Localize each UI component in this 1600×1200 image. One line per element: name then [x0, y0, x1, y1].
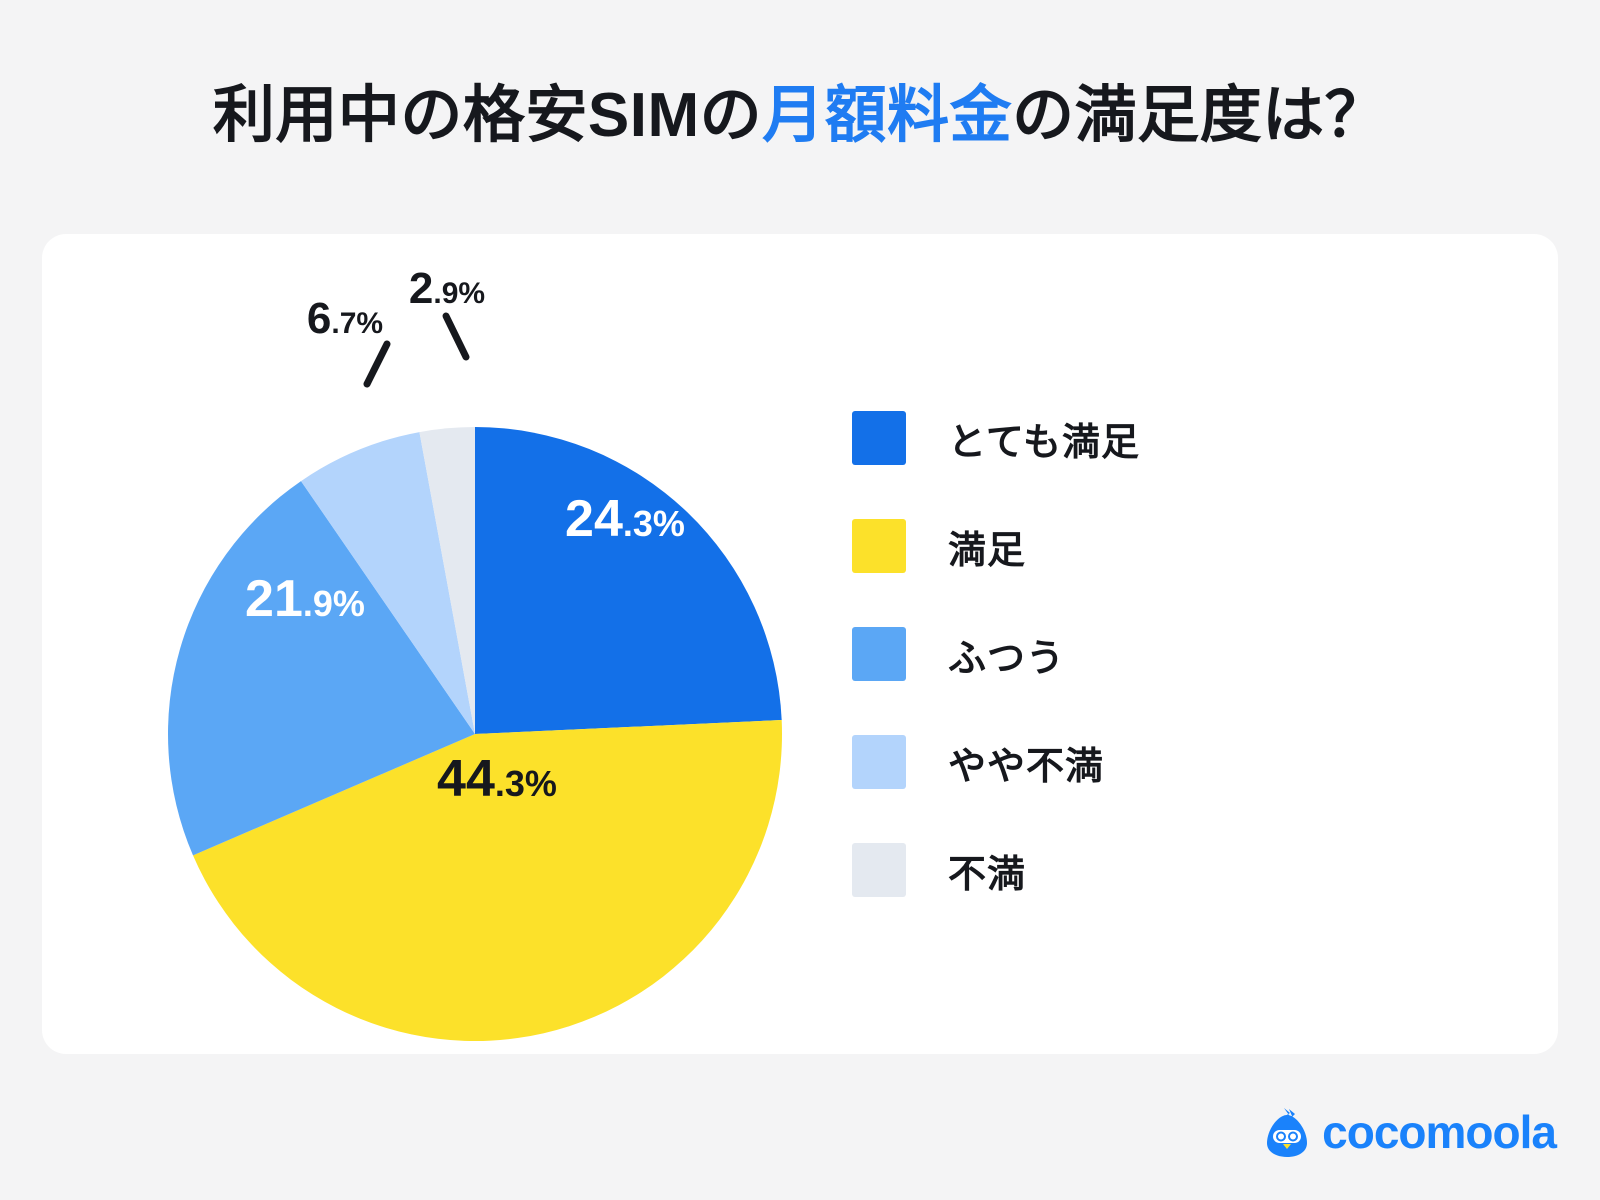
legend-item-somewhat-dissatisfied[interactable]: やや不満 [852, 708, 1372, 816]
title-suffix: の満足度は？ [1012, 81, 1387, 150]
title-highlight: 月額料金 [762, 81, 1012, 150]
legend-label-somewhat-dissatisfied: やや不満 [948, 735, 1104, 790]
legend-swatch-dissatisfied [852, 843, 906, 897]
legend-item-very-satisfied[interactable]: とても満足 [852, 384, 1372, 492]
legend-label-very-satisfied: とても満足 [948, 411, 1140, 466]
slice-label-somewhat-dissatisfied: 6.7% [307, 297, 383, 341]
slice-value-dec-neutral: .9% [303, 583, 365, 624]
leader-line-dissatisfied [446, 316, 466, 357]
moneybag-mascot-icon [1264, 1106, 1310, 1158]
pie-chart: 24.3% 44.3% 21.9% 6.7% 2.9% [42, 234, 902, 1054]
brand-logo-text: cocomoola [1322, 1109, 1556, 1155]
slice-label-satisfied: 44.3% [437, 753, 557, 805]
slice-value-dec-dissatisfied: .9% [433, 277, 485, 310]
chart-card: 24.3% 44.3% 21.9% 6.7% 2.9% とても満足満足ふつうやや… [42, 234, 1558, 1054]
page-title-text: 利用中の格安SIMの月額料金の満足度は？ [213, 80, 1387, 151]
legend-label-dissatisfied: 不満 [948, 843, 1026, 898]
legend-label-satisfied: 満足 [948, 519, 1026, 574]
pie-chart-svg [42, 234, 902, 1054]
brand-logo: cocomoola [1264, 1106, 1556, 1158]
pie-slice-very-satisfied[interactable] [475, 427, 782, 734]
slice-label-dissatisfied: 2.9% [409, 267, 485, 311]
slice-value-dec-satisfied: .3% [495, 763, 557, 804]
legend-swatch-satisfied [852, 519, 906, 573]
legend-swatch-neutral [852, 627, 906, 681]
legend-swatch-somewhat-dissatisfied [852, 735, 906, 789]
slice-label-very-satisfied: 24.3% [565, 493, 685, 545]
slice-value-dec-somewhat-dissatisfied: .7% [331, 307, 383, 340]
slice-label-neutral: 21.9% [245, 573, 365, 625]
legend-item-neutral[interactable]: ふつう [852, 600, 1372, 708]
slice-value-int-very-satisfied: 24 [565, 490, 623, 548]
slice-value-int-neutral: 21 [245, 570, 303, 628]
leader-line-somewhat-dissatisfied [367, 344, 387, 384]
chart-page: 利用中の格安SIMの月額料金の満足度は？ 24.3% 44.3% 21.9% 6… [0, 0, 1600, 1200]
title-prefix: 利用中の格安SIMの [213, 81, 762, 150]
pie-slices [168, 427, 782, 1041]
legend-item-satisfied[interactable]: 満足 [852, 492, 1372, 600]
slice-value-int-somewhat-dissatisfied: 6 [307, 294, 331, 343]
chart-legend: とても満足満足ふつうやや不満不満 [852, 384, 1372, 924]
legend-item-dissatisfied[interactable]: 不満 [852, 816, 1372, 924]
legend-label-neutral: ふつう [948, 627, 1065, 682]
slice-value-dec-very-satisfied: .3% [623, 503, 685, 544]
page-title: 利用中の格安SIMの月額料金の満足度は？ [0, 80, 1600, 151]
legend-swatch-very-satisfied [852, 411, 906, 465]
slice-value-int-satisfied: 44 [437, 750, 495, 808]
slice-value-int-dissatisfied: 2 [409, 264, 433, 313]
